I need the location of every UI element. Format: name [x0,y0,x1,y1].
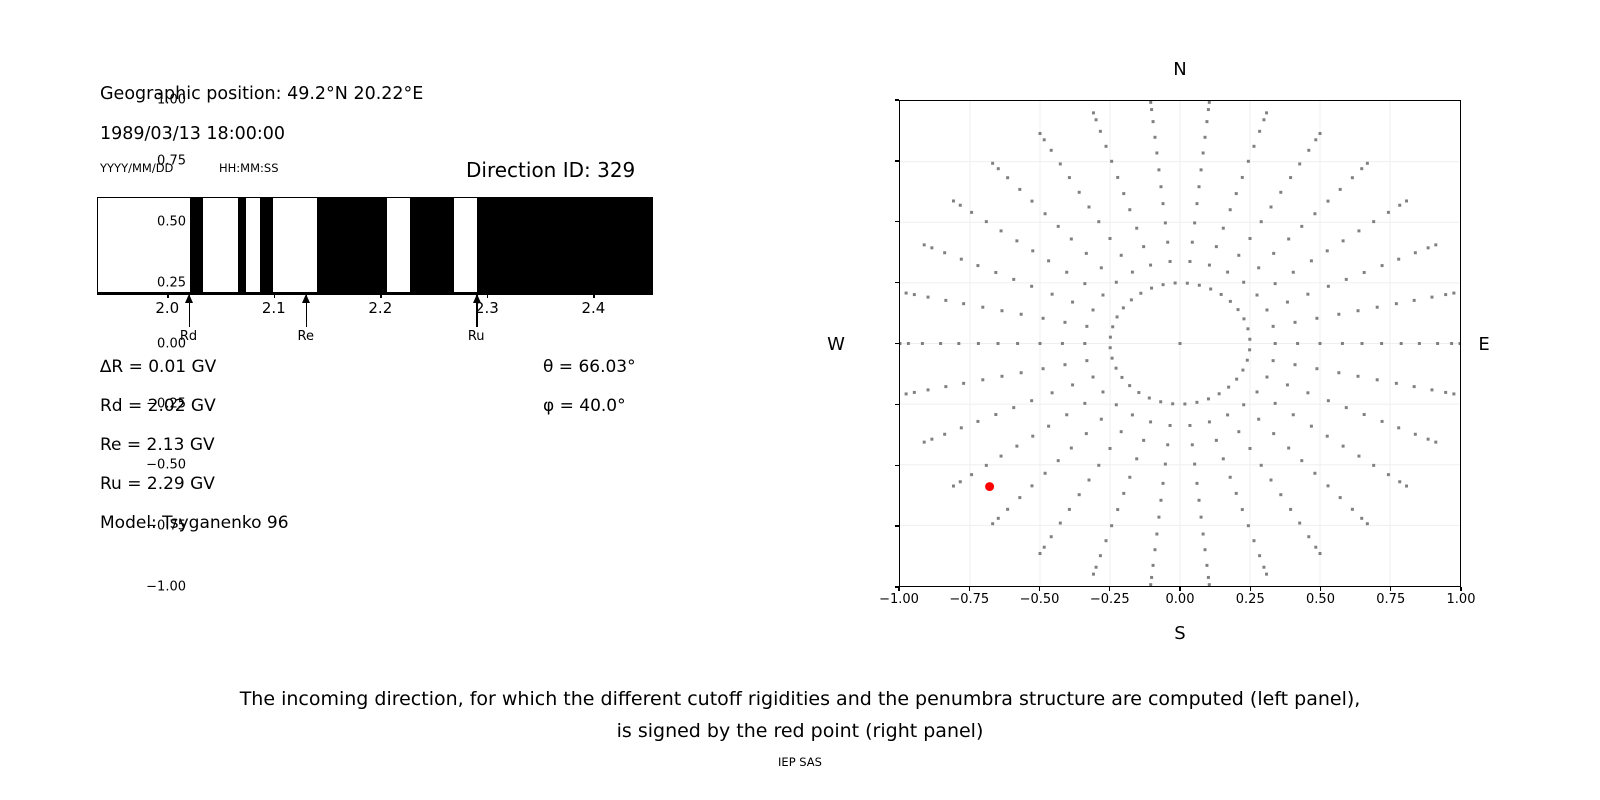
sky-map-x-tick-label: 1.00 [1447,592,1476,607]
sky-map-x-tick-label: 0.50 [1306,592,1335,607]
sky-map-x-tickmark [898,587,899,591]
sky-map-x-tick-label: −0.25 [1090,592,1130,607]
sky-map-x-tickmark [1460,587,1461,591]
sky-map-x-tickmark [1390,587,1391,591]
sky-map-x-tick-label: −0.75 [949,592,989,607]
caption-line-2: is signed by the red point (right panel) [0,715,1600,747]
sky-map-x-tick-label: −0.50 [1020,592,1060,607]
sky-map-x-tickmark [1039,587,1040,591]
sky-map-x-tickmark [1109,587,1110,591]
footer-credit: IEP SAS [0,755,1600,769]
sky-map-x-axis: −1.00−0.75−0.50−0.250.000.250.500.751.00 [0,0,1600,660]
right-panel: N S W E −1.00−0.75−0.50−0.250.000.250.50… [0,0,1600,660]
sky-map-x-tickmark [1250,587,1251,591]
sky-map-x-tick-label: 0.25 [1236,592,1265,607]
sky-map-x-tickmark [1320,587,1321,591]
sky-map-x-tickmark [1179,587,1180,591]
figure-caption: The incoming direction, for which the di… [0,683,1600,747]
sky-map-x-tick-label: 0.75 [1376,592,1405,607]
sky-map-x-tickmark [969,587,970,591]
sky-map-x-tick-label: −1.00 [879,592,919,607]
caption-line-1: The incoming direction, for which the di… [0,683,1600,715]
sky-map-x-tick-label: 0.00 [1166,592,1195,607]
